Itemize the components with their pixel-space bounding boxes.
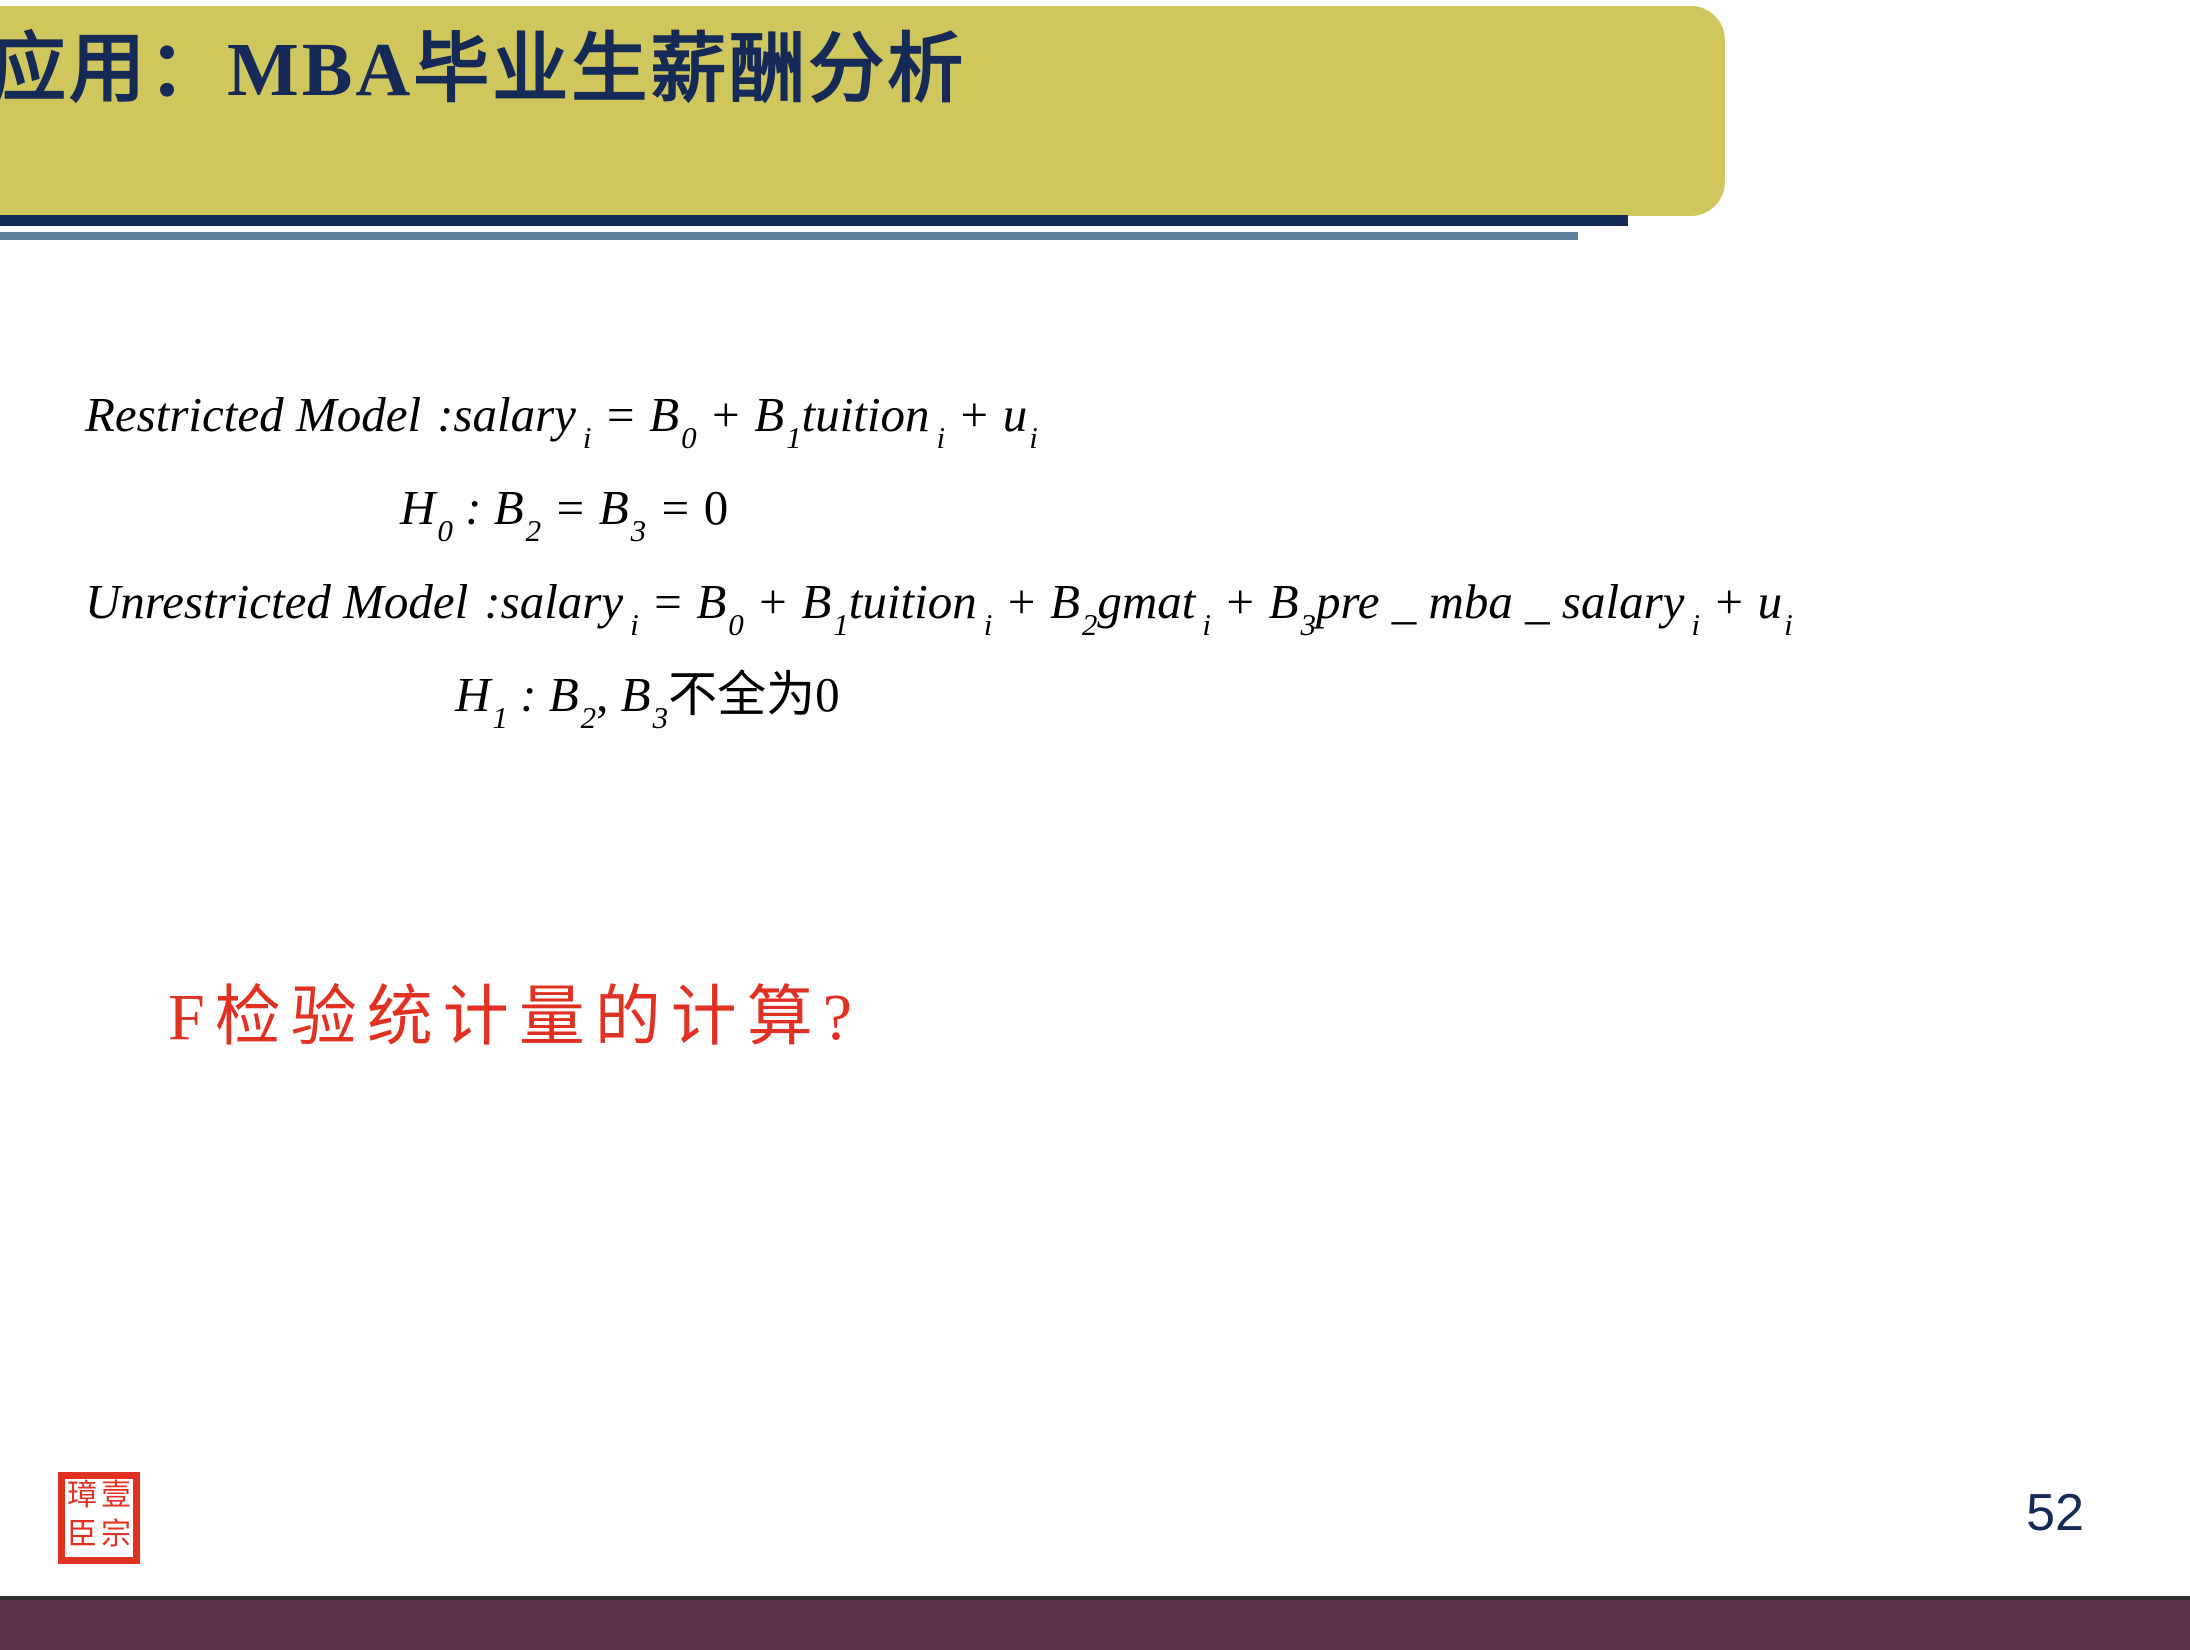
restricted-var-tuition: tuition [802,387,930,442]
unrestricted-b0: B [696,574,726,629]
unrestricted-gmat-subscript: i [1195,607,1211,642]
h1-chinese-qualifier: 不全为 [668,667,815,722]
page-number: 52 [2026,1483,2084,1543]
unrestricted-b0-subscript: 0 [726,607,744,642]
unrestricted-colon: : [484,574,500,629]
unrestricted-plus-3: + [1223,574,1256,629]
h1-symbol: H [455,667,490,722]
restricted-plus-2: + [957,387,990,442]
h0-b3-subscript: 3 [629,513,647,548]
restricted-b1-subscript: 1 [784,420,802,455]
seal-char-2: 壹 [99,1479,133,1518]
title-rule-dark [0,215,1628,226]
h0-subscript: 0 [435,513,453,548]
page-title: 应用：MBA毕业生薪酬分析 [0,32,966,108]
unrestricted-label: Unrestricted Model [85,574,468,629]
red-question-text: F检验统计量的计算? [168,963,862,1059]
restricted-colon: : [437,387,453,442]
h0-b2: B [494,480,524,535]
unrestricted-lhs-subscript: i [623,607,639,642]
h1-b2: B [549,667,579,722]
h1-comma: , [596,667,608,722]
seal-char-4: 宗 [99,1518,133,1557]
restricted-plus-1: + [709,387,742,442]
restricted-b1: B [754,387,784,442]
h0-colon: : [465,480,481,535]
seal-char-1: 璋 [65,1479,99,1518]
restricted-lhs-subscript: i [576,420,592,455]
h1-b2-subscript: 2 [579,700,597,735]
unrestricted-equals: = [651,574,684,629]
restricted-b0-subscript: 0 [679,420,697,455]
h1-b3: B [621,667,651,722]
equation-unrestricted-model: Unrestricted Model:salaryi = B0 + B1tuit… [85,577,2190,634]
restricted-equals: = [604,387,637,442]
unrestricted-b3-subscript: 3 [1299,607,1317,642]
slide-canvas: 应用：MBA毕业生薪酬分析 Restricted Model:salaryi =… [0,0,2190,1650]
title-rule-light [0,232,1578,240]
h0-symbol: H [400,480,435,535]
h1-subscript: 1 [490,700,508,735]
restricted-error-subscript: i [1027,420,1038,455]
h0-equals-2: = [658,480,691,535]
bottom-bar [0,1596,2190,1650]
unrestricted-var-gmat: gmat [1097,574,1195,629]
restricted-label: Restricted Model [85,387,421,442]
h0-b2-subscript: 2 [524,513,542,548]
restricted-tuition-subscript: i [930,420,946,455]
h1-b3-subscript: 3 [651,700,669,735]
seal-char-3: 臣 [65,1518,99,1557]
h1-colon: : [520,667,536,722]
unrestricted-var-pre-mba-salary: pre _ mba _ salary [1316,574,1684,629]
title-banner: 应用：MBA毕业生薪酬分析 [0,6,1725,216]
h0-b3: B [599,480,629,535]
unrestricted-var-tuition: tuition [849,574,977,629]
unrestricted-lhs: salary [501,574,624,629]
seal-stamp-icon: 璋 壹 臣 宗 [58,1472,140,1564]
h1-zero: 0 [815,667,840,722]
unrestricted-tuition-subscript: i [977,607,993,642]
h0-equals-1: = [553,480,586,535]
restricted-b0: B [649,387,679,442]
unrestricted-b1: B [801,574,831,629]
unrestricted-b1-subscript: 1 [831,607,849,642]
equation-restricted-model: Restricted Model:salaryi = B0 + B1tuitio… [85,390,2190,447]
equation-block: Restricted Model:salaryi = B0 + B1tuitio… [0,390,2190,728]
unrestricted-plus-2: + [1005,574,1038,629]
unrestricted-plus-4: + [1712,574,1745,629]
equation-null-hypothesis: H0 : B2 = B3 = 0 [400,483,2190,540]
restricted-error: u [1003,387,1028,442]
h0-zero: 0 [704,480,729,535]
equation-alternative-hypothesis: H1 : B2, B3不全为0 [455,670,2190,727]
unrestricted-plus-1: + [756,574,789,629]
unrestricted-error-subscript: i [1782,607,1793,642]
unrestricted-pre-mba-salary-subscript: i [1684,607,1700,642]
unrestricted-b3: B [1269,574,1299,629]
unrestricted-error: u [1758,574,1783,629]
restricted-lhs: salary [453,387,576,442]
unrestricted-b2: B [1050,574,1080,629]
unrestricted-b2-subscript: 2 [1080,607,1098,642]
